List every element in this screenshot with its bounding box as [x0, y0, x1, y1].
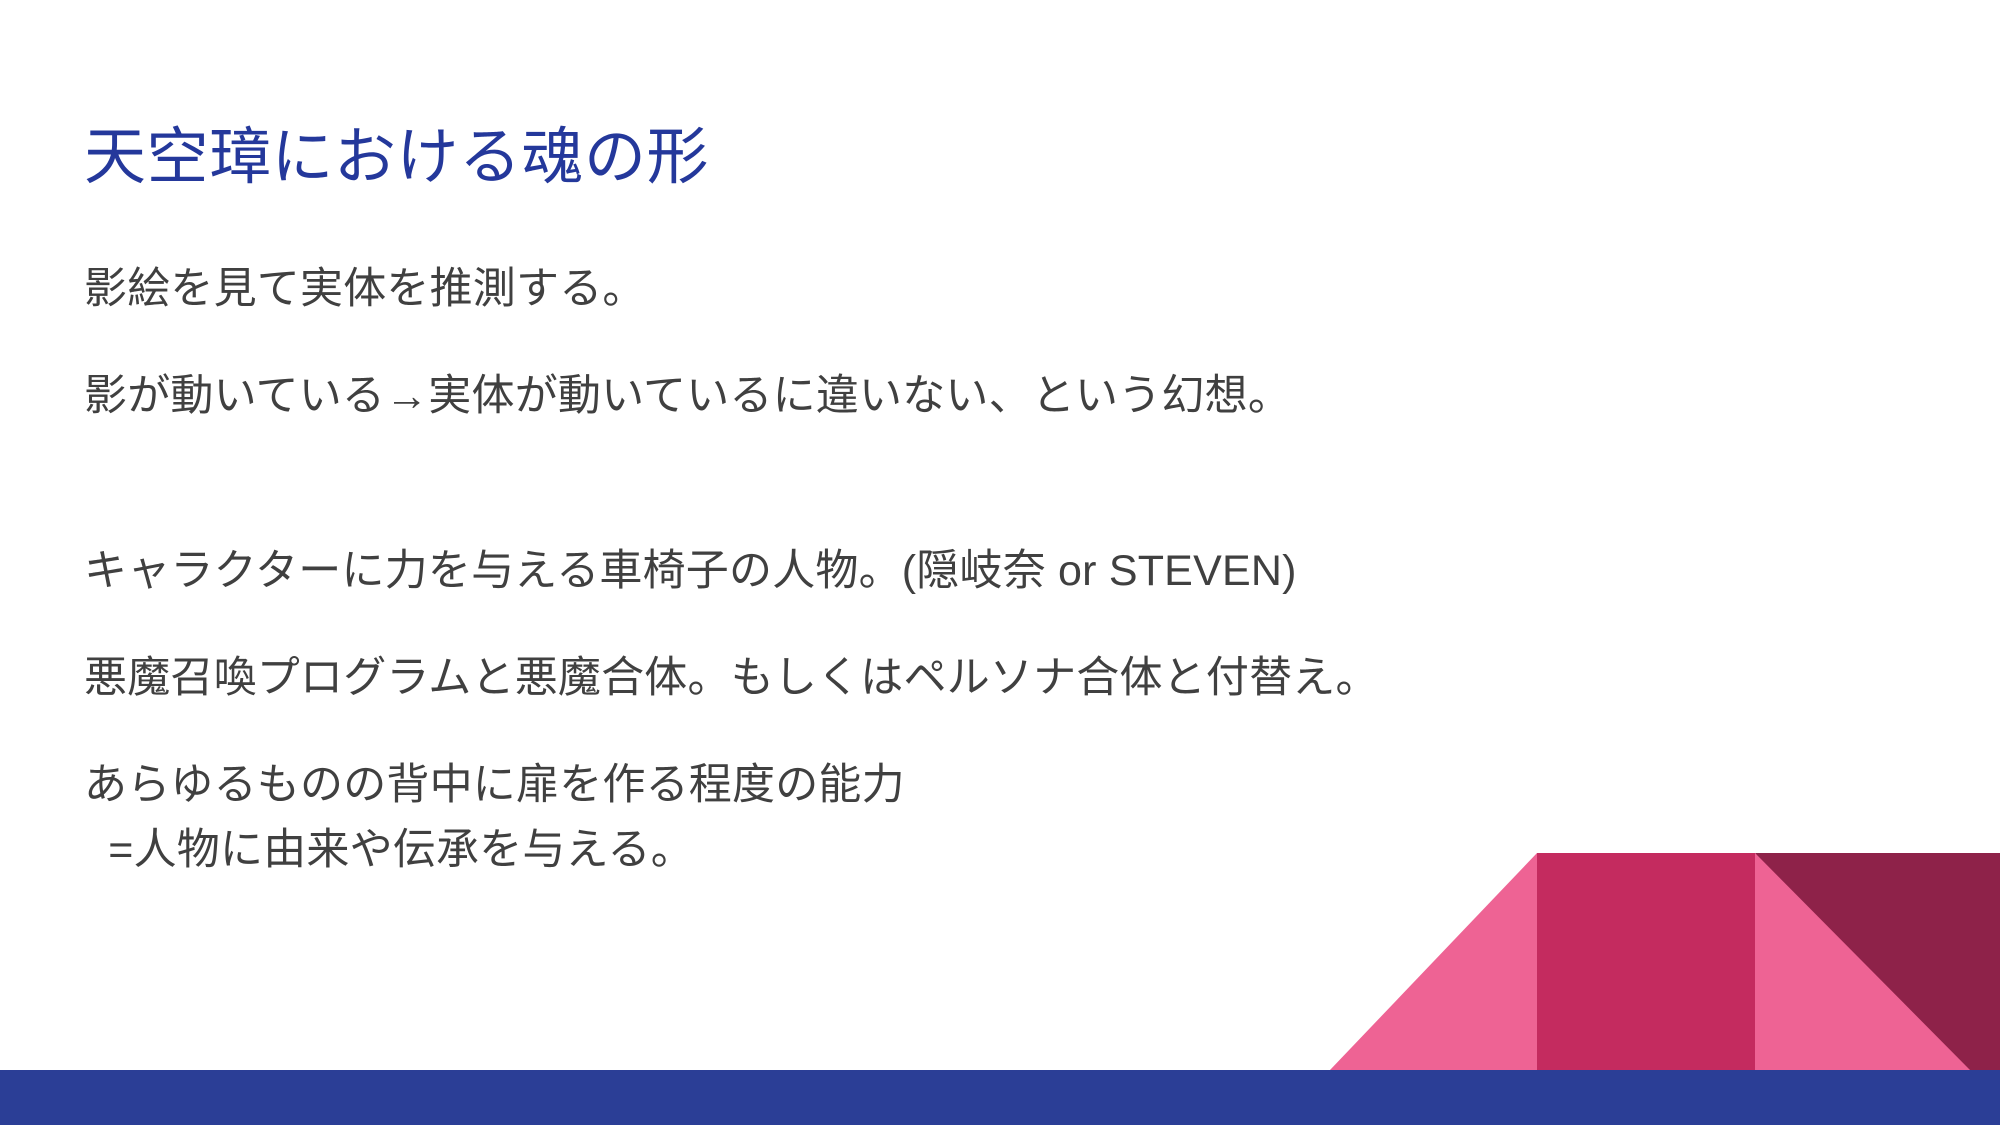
body-line-4: 悪魔召喚プログラムと悪魔合体。もしくはペルソナ合体と付替え。: [84, 651, 1884, 706]
slide-canvas: 天空璋における魂の形 影絵を見て実体を推測する。 影が動いている→実体が動いてい…: [0, 0, 2000, 1125]
body-line-3: キャラクターに力を与える車椅子の人物。(隠岐奈 or STEVEN): [84, 544, 1884, 599]
pink-triangle-left: [1330, 853, 1537, 1070]
maroon-triangle-shape: [1755, 853, 2000, 1070]
crimson-rectangle: [1537, 853, 1755, 1070]
body-line-1: 影絵を見て実体を推測する。: [84, 262, 1884, 317]
slide-body: 影絵を見て実体を推測する。 影が動いている→実体が動いているに違いない、という幻…: [84, 262, 1884, 878]
body-line-6: =人物に由来や伝承を与える。: [84, 823, 1884, 878]
body-line-2: 影が動いている→実体が動いているに違いない、という幻想。: [84, 369, 1884, 424]
pink-triangle-right: [1755, 853, 1970, 1070]
footer-bar: [0, 1070, 2000, 1125]
body-line-5: あらゆるものの背中に扉を作る程度の能力: [84, 758, 1884, 813]
slide-title: 天空璋における魂の形: [84, 122, 1784, 193]
triangle-ribbon-decoration: [1330, 845, 2000, 1070]
